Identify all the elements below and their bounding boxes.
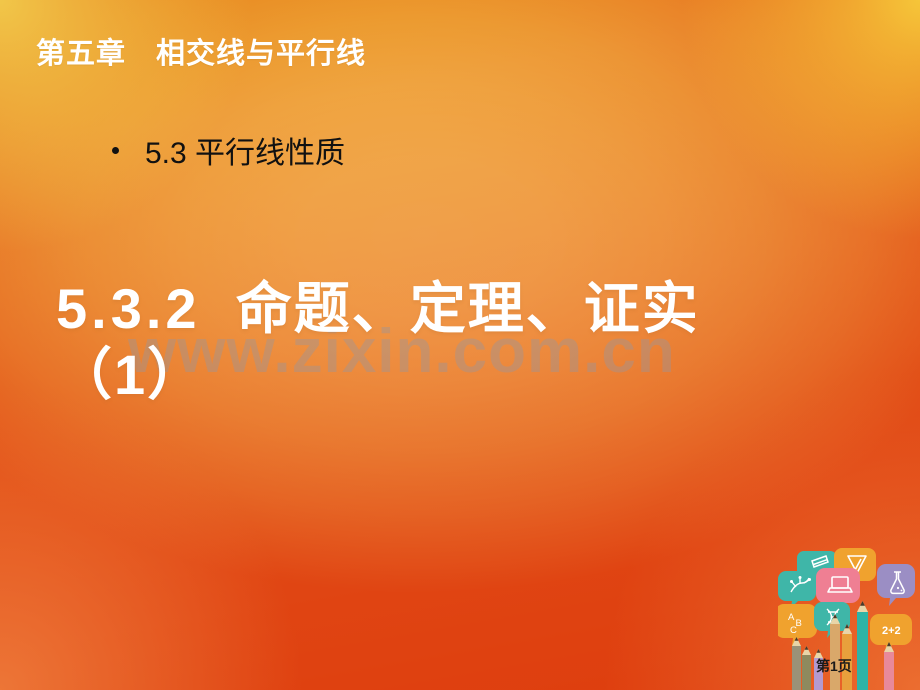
page-title-subnumber: （1） bbox=[56, 343, 205, 406]
svg-text:2+2: 2+2 bbox=[882, 625, 901, 637]
pencil-6 bbox=[857, 601, 868, 690]
page-title-number: 5.3.2 bbox=[56, 277, 201, 340]
page-title-main: 命题、定理、证实 bbox=[236, 277, 700, 340]
chapter-header: 第五章 相交线与平行线 bbox=[36, 30, 366, 72]
bubble-molecule bbox=[778, 571, 816, 608]
pencil-2 bbox=[802, 646, 811, 690]
pencil-4 bbox=[830, 614, 840, 690]
presentation-slide: 第五章 相交线与平行线 5.3 平行线性质 www.zixin.com.cn 5… bbox=[0, 0, 920, 690]
svg-text:C: C bbox=[790, 625, 797, 636]
pencil-7 bbox=[884, 642, 894, 690]
bubble-flask bbox=[877, 564, 915, 606]
bullet-dot-icon bbox=[112, 147, 119, 154]
section-bullet-label: 5.3 平行线性质 bbox=[145, 128, 345, 172]
section-bullet-item: 5.3 平行线性质 bbox=[112, 128, 345, 172]
pencil-1 bbox=[792, 637, 801, 690]
page-number: 第1页 bbox=[816, 656, 852, 676]
svg-text:A: A bbox=[788, 612, 795, 623]
page-title: 5.3.2 命题、定理、证实 （1） bbox=[56, 276, 896, 407]
